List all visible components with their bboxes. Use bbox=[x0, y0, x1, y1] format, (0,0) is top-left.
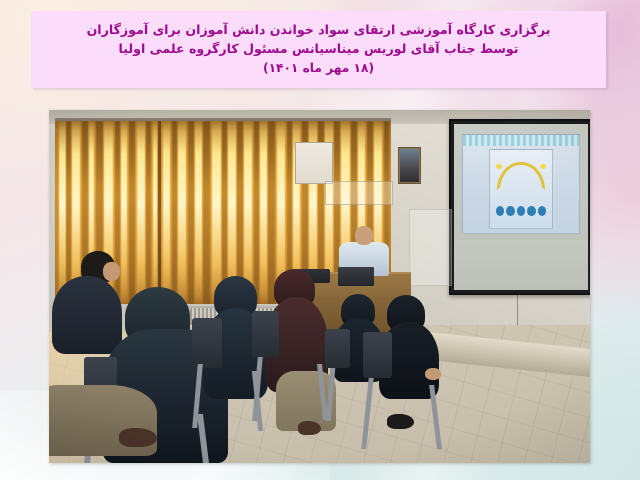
classroom-photo bbox=[49, 110, 590, 463]
projected-slide-toolbar bbox=[463, 135, 578, 146]
wall-small-poster bbox=[295, 142, 333, 184]
poster-badge-row bbox=[496, 204, 546, 217]
presentation-slide: برگزاری کارگاه آموزشی ارتقای سواد خواندن… bbox=[0, 0, 640, 480]
title-line-2: توسط جناب آقای لوریس میناسیانس مسئول کار… bbox=[119, 39, 519, 58]
poster-dot-left bbox=[496, 164, 502, 169]
attendee-body bbox=[52, 276, 122, 354]
projection-surface bbox=[454, 124, 587, 291]
attendee-shoe bbox=[298, 421, 321, 435]
chair-back bbox=[192, 318, 222, 367]
attendee-hand bbox=[425, 368, 441, 380]
attendee-shoe bbox=[387, 414, 414, 430]
photo-content bbox=[49, 110, 590, 463]
title-banner: برگزاری کارگاه آموزشی ارتقای سواد خواندن… bbox=[31, 11, 606, 88]
title-line-date: (۱۸ مهر ماه ۱۴۰۱) bbox=[263, 58, 374, 78]
projection-blank-area bbox=[454, 240, 587, 290]
chair-back bbox=[325, 329, 350, 368]
poster-dot-right bbox=[540, 164, 546, 169]
projected-slide-poster bbox=[489, 149, 554, 229]
wall-paper-sheet bbox=[409, 209, 452, 287]
attendee-face bbox=[103, 262, 120, 281]
presenter-head bbox=[355, 226, 373, 244]
poster-arc-graphic bbox=[497, 162, 545, 190]
chair-back bbox=[363, 332, 392, 378]
projection-screen bbox=[449, 119, 590, 296]
title-line-1: برگزاری کارگاه آموزشی ارتقای سواد خواندن… bbox=[87, 20, 551, 39]
chair-back bbox=[252, 311, 279, 357]
wall-whiteboard bbox=[325, 181, 393, 206]
presenter-laptop bbox=[338, 267, 373, 286]
projected-slide bbox=[462, 134, 579, 234]
framed-portrait bbox=[398, 147, 421, 184]
attendee-shoe bbox=[119, 428, 157, 447]
